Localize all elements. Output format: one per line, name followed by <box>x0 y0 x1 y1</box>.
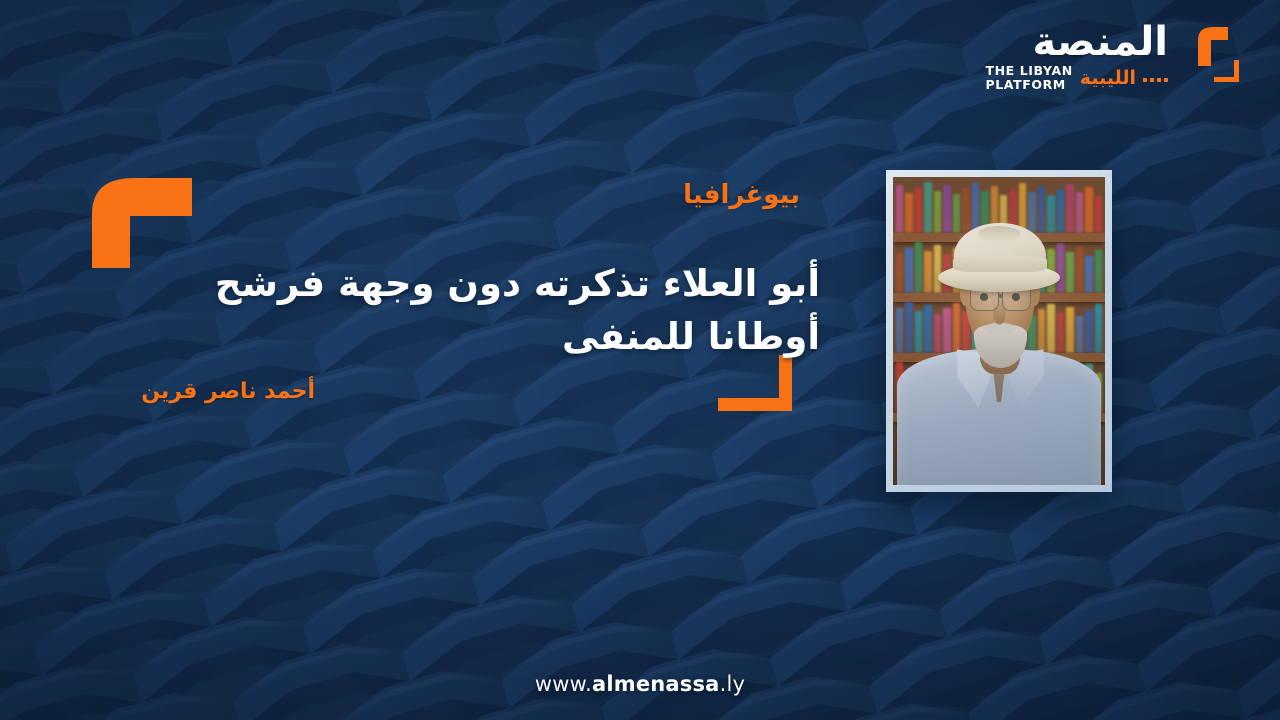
logo-bracket-small-icon <box>1212 60 1240 88</box>
headline: أبو العلاء تذكرته دون وجهة فرشح أوطانا ل… <box>200 258 820 363</box>
logo-wordmark: المنصة الليبية THE LIBYAN PLATFORM <box>985 22 1168 93</box>
url-name: almenassa <box>592 672 720 696</box>
site-url[interactable]: www.almenassa.ly <box>0 672 1280 696</box>
url-prefix: www. <box>535 672 592 696</box>
logo-english: THE LIBYAN PLATFORM <box>985 64 1072 93</box>
author-byline: أحمد ناصر قرين <box>141 381 315 403</box>
logo-mark <box>1178 26 1254 88</box>
logo-english-line2: PLATFORM <box>985 77 1065 92</box>
logo-dots-icon <box>1143 78 1168 82</box>
logo-arabic-main: المنصة <box>1032 22 1168 62</box>
poster-canvas: المنصة الليبية THE LIBYAN PLATFORM بيوغ <box>0 0 1280 720</box>
quote-bracket-close-icon <box>718 355 798 417</box>
logo-english-line1: THE LIBYAN <box>985 63 1072 78</box>
portrait-frame <box>886 170 1112 492</box>
quote-bracket-open-icon <box>92 176 192 268</box>
site-logo[interactable]: المنصة الليبية THE LIBYAN PLATFORM <box>985 22 1254 93</box>
portrait-photo <box>893 177 1105 485</box>
category-kicker: بيوغرافيا <box>683 182 800 208</box>
photo-shading <box>893 177 1105 485</box>
logo-arabic-sub: الليبية <box>1080 69 1136 88</box>
url-tld: .ly <box>720 672 746 696</box>
